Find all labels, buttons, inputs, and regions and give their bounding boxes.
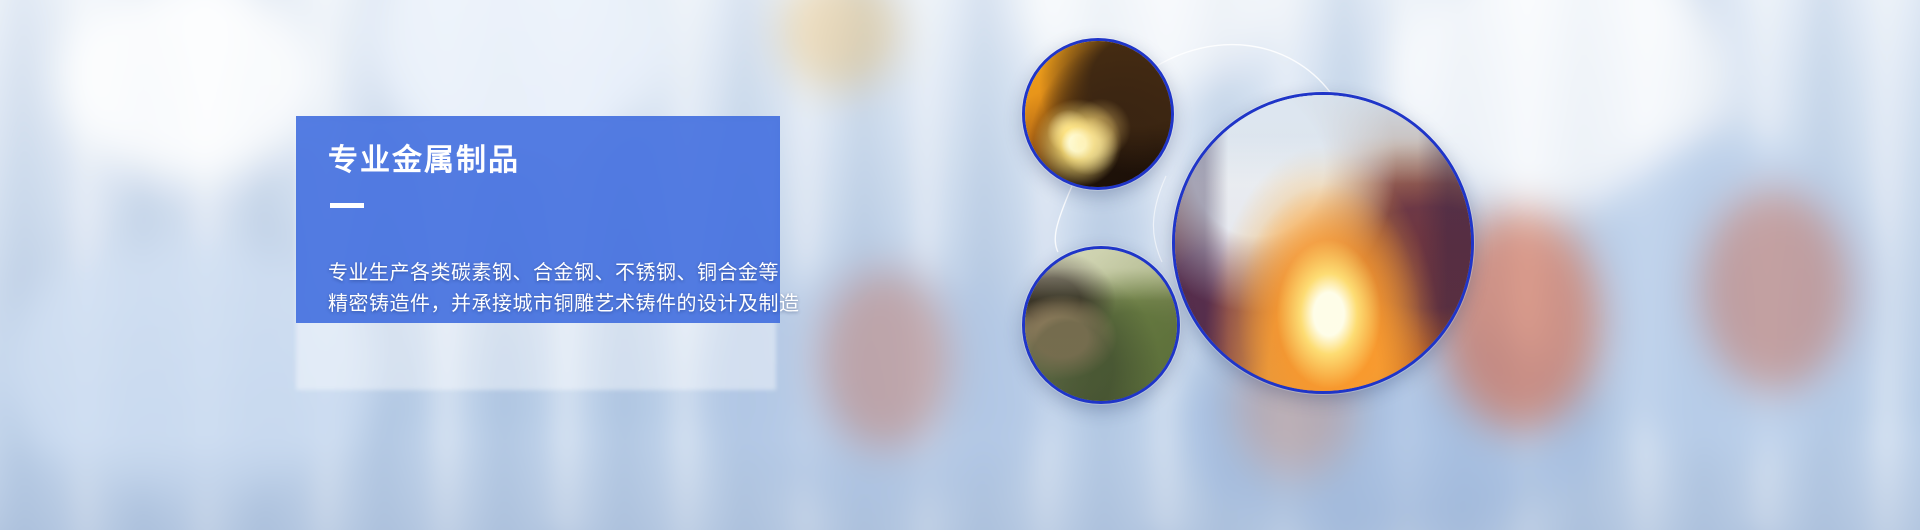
inspection-worker-photo (1022, 246, 1180, 404)
inspection-worker-image (1025, 249, 1177, 401)
foundry-pour-image (1175, 95, 1471, 391)
welding-sparks-image (1025, 41, 1171, 187)
hero-banner: 专业金属制品 专业生产各类碳素钢、合金钢、不锈钢、铜合金等 精密铸造件，并承接城… (0, 0, 1920, 530)
medallion-group (0, 0, 1920, 530)
foundry-pour-photo (1172, 92, 1474, 394)
welding-sparks-photo (1022, 38, 1174, 190)
